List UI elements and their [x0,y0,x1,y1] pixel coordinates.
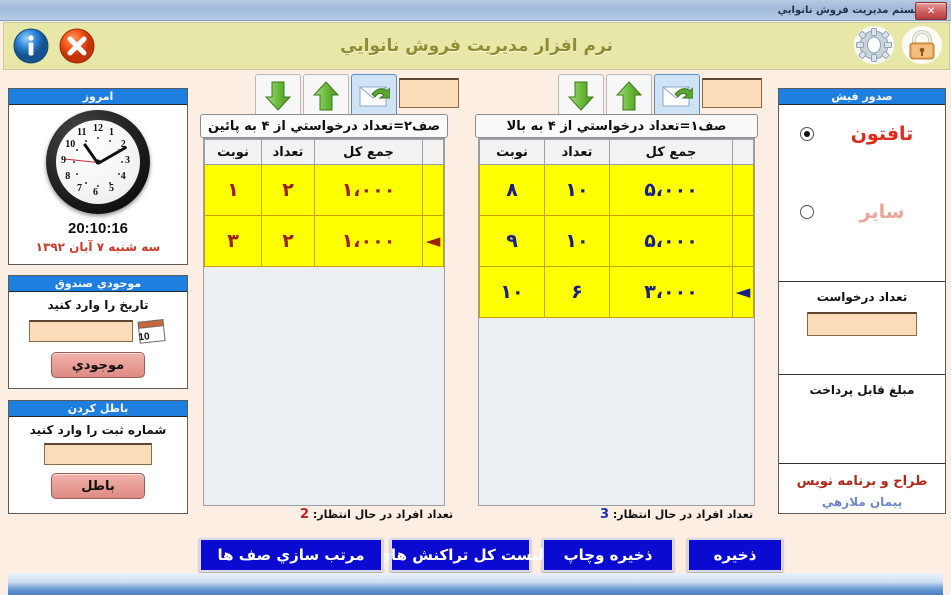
today-panel-title: امروز [9,89,187,105]
queue1-caption: صف۱=تعداد درخواستي از ۴ به بالا [475,114,758,138]
app-header: نرم افزار مدیریت فروش نانوایي [3,22,950,70]
payable-amount-section: مبلغ قابل پرداخت [779,375,945,463]
bottom-status-bar [8,573,943,595]
table-row[interactable]: ◄۳،۰۰۰۶۱۰ [480,267,754,318]
queue1-waiting-label: تعداد افراد در حال انتظار: [613,508,753,521]
clock-tick [76,149,78,151]
row-selection-marker[interactable] [423,165,444,216]
table-header-row: جمع کل تعداد نوبت [480,140,754,165]
clock-widget: 121234567891011 20:10:16 سه شنبه ۷ آبان … [9,105,187,254]
clock-tick [85,182,87,184]
credit-name: پیمان ملازهي [779,489,945,509]
move-up-icon[interactable] [303,74,349,118]
cell-turn[interactable]: ۱۰ [480,267,545,318]
clock-numeral: 1 [109,127,114,138]
digital-time: 20:10:16 [68,220,128,237]
analog-clock-icon: 121234567891011 [46,110,150,214]
table-row[interactable]: ۵،۰۰۰۱۰۹ [480,216,754,267]
clock-numeral: 6 [93,187,98,198]
receipt-panel-title: صدور فیش [779,89,945,105]
page-title: نرم افزار مدیریت فروش نانوایي [4,36,949,56]
clock-tick [97,185,99,187]
clock-numeral: 8 [65,171,70,182]
transactions-list-button[interactable]: لیست کل تراکنش هاي [390,538,531,572]
window-titlebar: سیستم مدیریت فروش نانوایي ✕ [0,0,951,21]
void-panel-title: باطل کردن [9,401,187,417]
queue1-table-panel: جمع کل تعداد نوبت ۵،۰۰۰۱۰۸۵،۰۰۰۱۰۹◄۳،۰۰۰… [478,138,755,506]
today-panel: امروز 121234567891011 20:10:16 سه شنبه ۷… [8,88,188,265]
save-button[interactable]: ذخیره [687,538,783,572]
payable-amount-value [779,397,945,405]
save-print-button[interactable]: ذخیره وچاپ [542,538,674,572]
move-down-icon[interactable] [255,74,301,118]
row-selection-marker[interactable] [733,165,754,216]
gear-icon[interactable] [857,25,895,63]
void-panel: باطل کردن شماره ثبت را وارد کنید باطل [8,400,188,514]
window-title: سیستم مدیریت فروش نانوایي [778,5,928,16]
svg-text:10: 10 [138,331,151,343]
clock-numeral: 2 [121,139,126,150]
clock-tick [76,173,78,175]
cell-total[interactable]: ۵،۰۰۰ [610,216,733,267]
window-close-button[interactable]: ✕ [915,2,947,20]
persian-date: سه شنبه ۷ آبان ۱۳۹۲ [36,240,161,254]
cash-balance-title: موجودي صندوق [9,276,187,292]
row-selection-marker[interactable]: ◄ [423,216,444,267]
cell-count[interactable]: ۱۰ [545,216,610,267]
void-button[interactable]: باطل [51,473,145,499]
cell-turn[interactable]: ۸ [480,165,545,216]
cash-balance-panel: موجودي صندوق تاریخ را وارد کنید 10 موجود… [8,275,188,389]
clock-tick [121,161,123,163]
table-row[interactable]: ۵،۰۰۰۱۰۸ [480,165,754,216]
void-number-input[interactable] [44,443,152,465]
cell-turn[interactable]: ۹ [480,216,545,267]
refresh-envelope-icon[interactable] [351,74,397,118]
radio-option-other[interactable]: سایر [779,193,945,231]
clock-numeral: 9 [61,155,66,166]
clock-numeral: 3 [125,155,130,166]
queue2-waiting-status: تعداد افراد در حال انتظار: 2 [300,507,453,522]
credits-section: طراح و برنامه نویس پیمان ملازهي [779,464,945,509]
column-header-turn: نوبت [480,140,545,165]
cell-count[interactable]: ۱۰ [545,165,610,216]
queue1-toolbar-input[interactable] [702,78,762,108]
calendar-icon[interactable]: 10 [137,318,167,344]
header-left-icons [12,27,96,65]
request-count-input[interactable] [807,312,917,336]
receipt-panel: صدور فیش تافتون سایر تعداد درخواست مبلغ … [778,88,946,514]
queue1-waiting-status: تعداد افراد در حال انتظار: 3 [600,507,753,522]
payable-amount-label: مبلغ قابل پرداخت [779,375,945,397]
header-right-icons [857,25,943,63]
cash-date-label: تاریخ را وارد کنید [9,298,187,312]
clock-numeral: 12 [93,123,103,134]
cell-total[interactable]: ۳،۰۰۰ [610,267,733,318]
queue2-toolbar [255,74,461,118]
queue2-table-panel: جمع کل تعداد نوبت ۱،۰۰۰۲۱◄۱،۰۰۰۲۳ [203,138,445,506]
radio-taftoon-icon[interactable] [800,127,814,141]
clock-tick [109,140,111,142]
cell-count[interactable]: ۲ [262,165,315,216]
bread-type-radio-group: تافتون سایر [779,105,945,281]
table-header-row: جمع کل تعداد نوبت [205,140,444,165]
cell-total[interactable]: ۵،۰۰۰ [610,165,733,216]
cell-total[interactable]: ۱،۰۰۰ [315,216,423,267]
column-header-count: تعداد [262,140,315,165]
column-header-count: تعداد [545,140,610,165]
column-header-turn: نوبت [205,140,262,165]
queue2-waiting-count: 2 [300,507,309,522]
close-circle-icon[interactable] [58,27,96,65]
row-selection-marker[interactable] [733,216,754,267]
queue2-waiting-label: تعداد افراد در حال انتظار: [313,508,453,521]
cash-balance-button[interactable]: موجودي [51,352,145,378]
clock-tick [73,161,75,163]
sort-queues-button[interactable]: مرتب سازي صف ها [199,538,383,572]
clock-tick [85,140,87,142]
clock-numeral: 11 [77,127,86,138]
queue1-table[interactable]: جمع کل تعداد نوبت ۵،۰۰۰۱۰۸۵،۰۰۰۱۰۹◄۳،۰۰۰… [479,139,754,318]
clock-tick [97,137,99,139]
table-row[interactable]: ۱،۰۰۰۲۱ [205,165,444,216]
marker-column-header [733,140,754,165]
padlock-icon[interactable] [905,25,943,63]
column-header-total: جمع کل [610,140,733,165]
column-header-total: جمع کل [315,140,423,165]
queue2-toolbar-input[interactable] [399,78,459,108]
move-up-icon[interactable] [606,74,652,118]
refresh-envelope-icon[interactable] [654,74,700,118]
application-window: سیستم مدیریت فروش نانوایي ✕ [0,0,951,595]
clock-tick [109,182,111,184]
row-selection-marker[interactable]: ◄ [733,267,754,318]
table-row[interactable]: ◄۱،۰۰۰۲۳ [205,216,444,267]
credit-role: طراح و برنامه نویس [779,464,945,489]
radio-other-icon[interactable] [800,205,814,219]
queue2-table[interactable]: جمع کل تعداد نوبت ۱،۰۰۰۲۱◄۱،۰۰۰۲۳ [204,139,444,267]
request-count-section: تعداد درخواست [779,282,945,374]
radio-label-other: سایر [840,201,924,223]
cell-total[interactable]: ۱،۰۰۰ [315,165,423,216]
clock-numeral: 5 [109,183,114,194]
queue1-waiting-count: 3 [600,507,609,522]
void-number-label: شماره ثبت را وارد کنید [9,423,187,437]
clock-numeral: 7 [77,183,82,194]
cell-count[interactable]: ۶ [545,267,610,318]
clock-numeral: 10 [65,139,75,150]
cell-turn[interactable]: ۱ [205,165,262,216]
radio-label-taftoon: تافتون [840,123,924,145]
radio-option-taftoon[interactable]: تافتون [779,115,945,153]
cell-turn[interactable]: ۳ [205,216,262,267]
cash-date-input[interactable] [29,320,133,342]
cell-count[interactable]: ۲ [262,216,315,267]
queue2-caption: صف۲=تعداد درخواستي از ۴ به پائین [200,114,448,138]
clock-tick [118,149,120,151]
clock-tick [118,173,120,175]
move-down-icon[interactable] [558,74,604,118]
clock-numeral: 4 [121,171,126,182]
queue1-toolbar [558,74,764,118]
request-count-label: تعداد درخواست [779,282,945,304]
marker-column-header [423,140,444,165]
info-circle-icon[interactable] [12,27,50,65]
